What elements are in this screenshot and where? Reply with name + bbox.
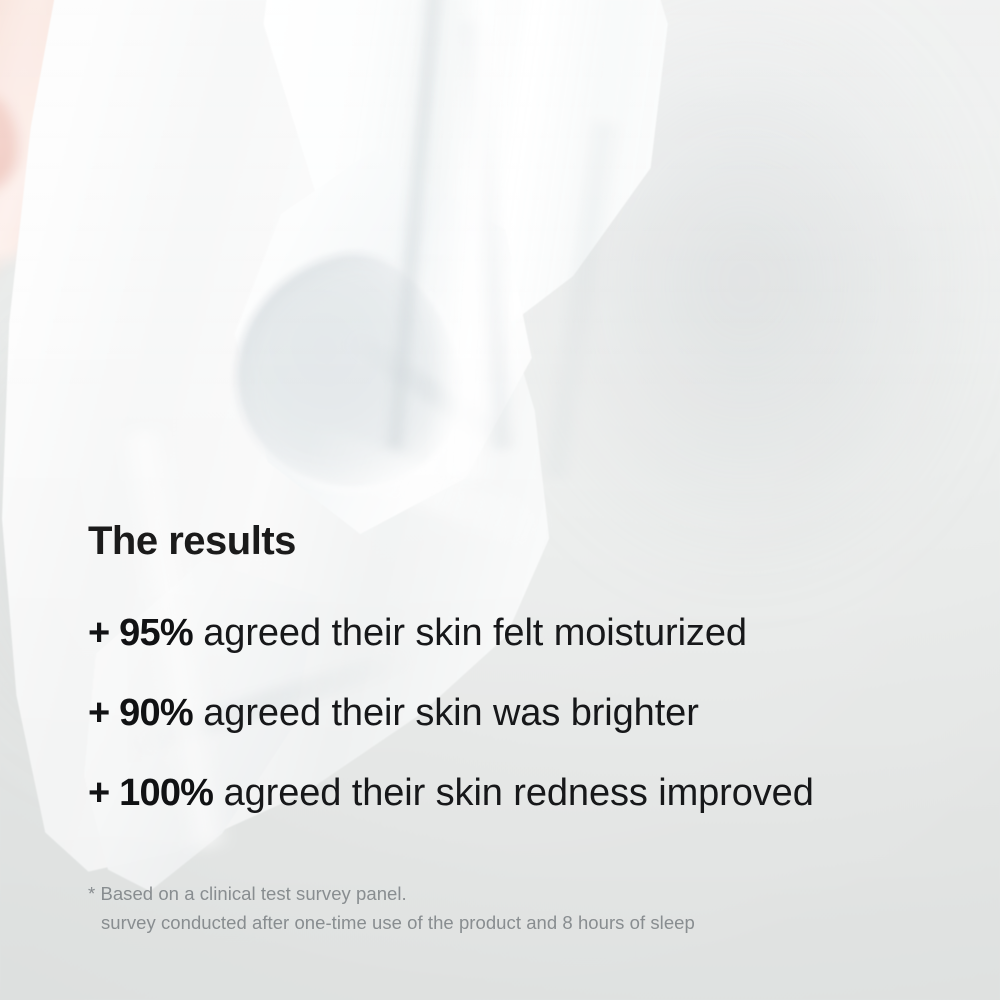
product-results-poster: The results + 95% agreed their skin felt… xyxy=(0,0,1000,1000)
disclaimer: * Based on a clinical test survey panel.… xyxy=(88,880,695,937)
text-overlay: The results + 95% agreed their skin felt… xyxy=(0,0,1000,1000)
result-value: + 90% xyxy=(88,692,193,734)
page-title: The results xyxy=(88,521,296,561)
results-list: + 95% agreed their skin felt moisturized… xyxy=(88,614,948,812)
result-value: + 100% xyxy=(88,772,213,814)
result-label: agreed their skin redness improved xyxy=(213,772,814,814)
disclaimer-line-2: survey conducted after one-time use of t… xyxy=(88,909,695,938)
disclaimer-line-1: * Based on a clinical test survey panel. xyxy=(88,883,407,904)
result-value: + 95% xyxy=(88,612,193,654)
result-item: + 90% agreed their skin was brighter xyxy=(88,694,948,732)
result-label: agreed their skin was brighter xyxy=(193,692,699,734)
result-label: agreed their skin felt moisturized xyxy=(193,612,747,654)
result-item: + 100% agreed their skin redness improve… xyxy=(88,774,948,812)
result-item: + 95% agreed their skin felt moisturized xyxy=(88,614,948,652)
